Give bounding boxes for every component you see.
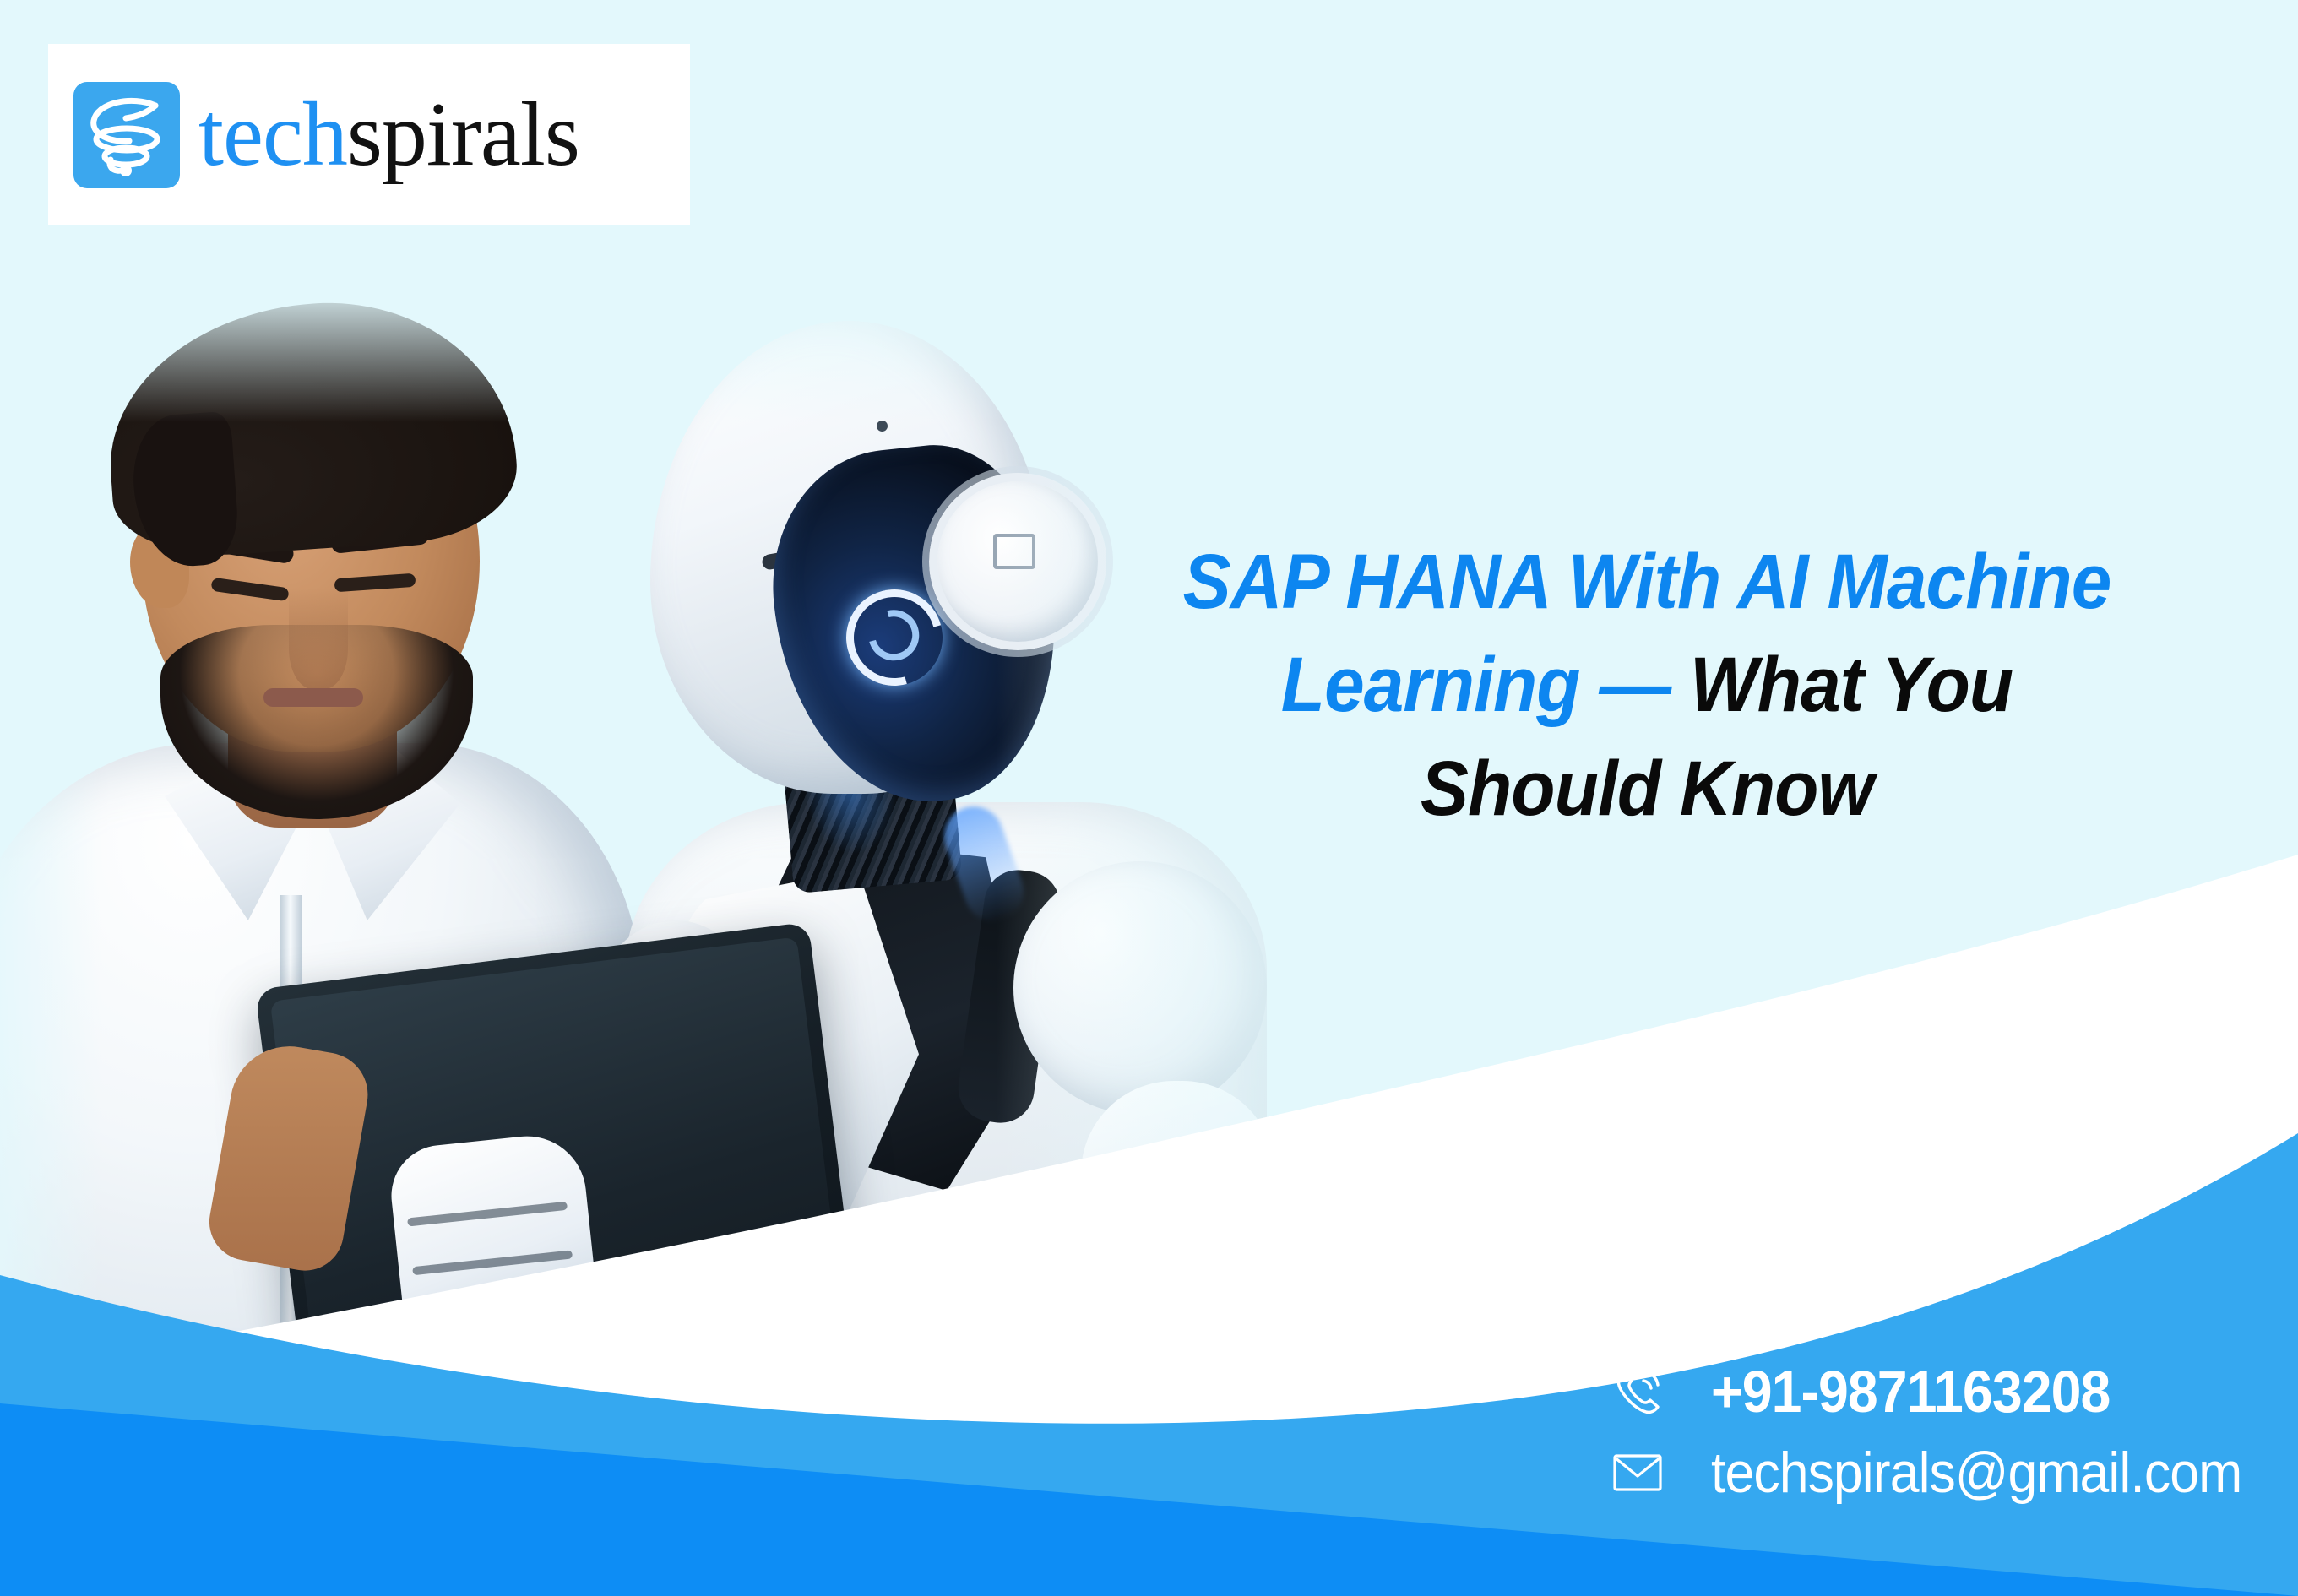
logo-word-tech: tech bbox=[198, 84, 347, 185]
contact-email-row[interactable]: techspirals@gmail.com bbox=[1605, 1432, 2288, 1513]
contact-phone-row[interactable]: +91-9871163208 bbox=[1605, 1351, 2288, 1432]
man-nose bbox=[289, 588, 348, 689]
logo-wordmark: techspirals bbox=[198, 90, 579, 181]
phone-call-icon bbox=[1605, 1359, 1671, 1425]
robot-head bbox=[650, 321, 1047, 794]
man-mouth bbox=[263, 688, 363, 707]
logo[interactable]: techspirals bbox=[48, 44, 690, 225]
robot-ear-disc bbox=[929, 473, 1106, 650]
page-title: SAP HANA With AI Machine Learning — What… bbox=[1171, 530, 2121, 840]
envelope-icon bbox=[1605, 1440, 1671, 1506]
man-hair bbox=[100, 290, 521, 563]
marketing-banner: techspirals SAP HANA With AI Machine Lea… bbox=[0, 0, 2298, 1596]
email-address[interactable]: techspirals@gmail.com bbox=[1711, 1440, 2241, 1506]
contact-block: +91-9871163208 techspirals@gmail.com bbox=[1605, 1351, 2288, 1513]
techspirals-tornado-logo-icon bbox=[73, 82, 180, 188]
logo-word-spirals: spirals bbox=[347, 84, 579, 185]
robot-head-sensor bbox=[877, 421, 888, 432]
phone-number[interactable]: +91-9871163208 bbox=[1711, 1358, 2110, 1425]
